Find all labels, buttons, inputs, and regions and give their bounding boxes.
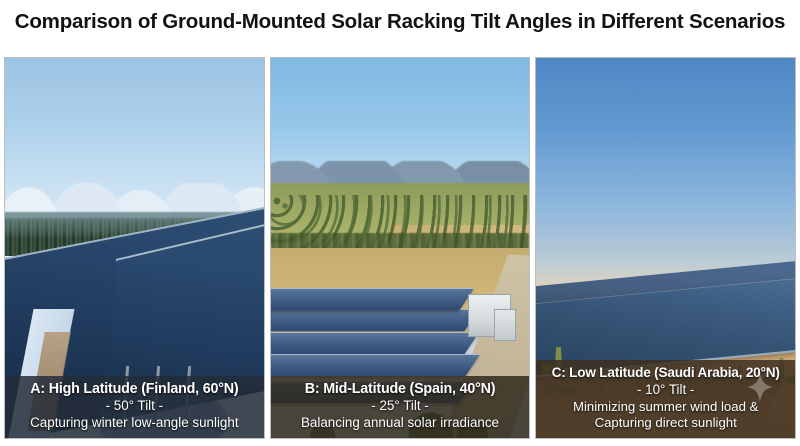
- panel-c-low-latitude[interactable]: C: Low Latitude (Saudi Arabia, 20°N) - 1…: [535, 57, 796, 439]
- panel-a-high-latitude[interactable]: A: High Latitude (Finland, 60°N) - 50° T…: [4, 57, 265, 439]
- figure-root: Comparison of Ground-Mounted Solar Racki…: [0, 0, 800, 446]
- panel-c-tilt-label: - 10° Tilt -: [540, 382, 791, 398]
- panel-b-description: Balancing annual solar irradiance: [275, 415, 526, 431]
- panel-c-description-line2: Capturing direct sunlight: [540, 415, 791, 431]
- panel-b-mid-latitude[interactable]: B: Mid-Latitude (Spain, 40°N) - 25° Tilt…: [270, 57, 531, 439]
- panel-strip: A: High Latitude (Finland, 60°N) - 50° T…: [4, 57, 796, 439]
- panel-a-caption-title: A: High Latitude (Finland, 60°N): [9, 381, 260, 398]
- panel-a-description: Capturing winter low-angle sunlight: [9, 415, 260, 431]
- panel-b-caption: B: Mid-Latitude (Spain, 40°N) - 25° Tilt…: [271, 376, 530, 438]
- panel-b-tilt-label: - 25° Tilt -: [275, 398, 526, 414]
- panel-a-caption: A: High Latitude (Finland, 60°N) - 50° T…: [5, 376, 264, 438]
- solar-panel-row: [271, 309, 480, 331]
- page-title: Comparison of Ground-Mounted Solar Racki…: [0, 10, 800, 34]
- solar-panel-row: [271, 332, 480, 354]
- panel-b-caption-title: B: Mid-Latitude (Spain, 40°N): [275, 381, 526, 398]
- panel-a-tilt-label: - 50° Tilt -: [9, 398, 260, 414]
- panel-c-caption-title: C: Low Latitude (Saudi Arabia, 20°N): [540, 365, 791, 381]
- panel-c-description-line1: Minimizing summer wind load &: [540, 399, 791, 415]
- electrical-cabinet: [494, 309, 517, 341]
- panel-c-caption: C: Low Latitude (Saudi Arabia, 20°N) - 1…: [536, 360, 795, 438]
- solar-panel-row: [271, 288, 475, 310]
- solar-panel-row: [271, 354, 480, 376]
